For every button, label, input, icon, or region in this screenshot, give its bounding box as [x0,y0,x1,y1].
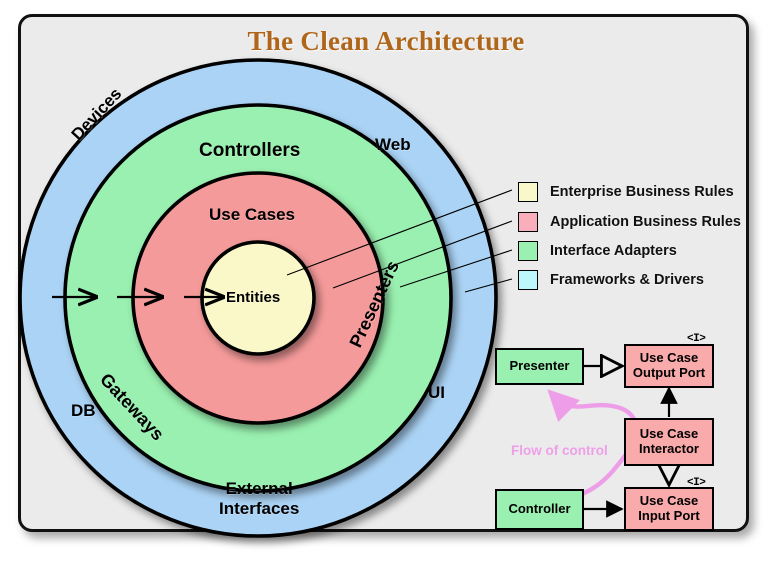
legend-item-application-business-rules: Application Business Rules [518,212,741,232]
legend-item-frameworks-drivers: Frameworks & Drivers [518,270,704,290]
legend-swatch-interface-adapters [518,241,538,261]
flow-box-use-case-input-port: Use Case Input Port [624,487,714,531]
legend-label-application: Application Business Rules [550,214,741,230]
legend-label-frameworks-drivers: Frameworks & Drivers [550,272,704,288]
legend-swatch-frameworks-drivers [518,270,538,290]
legend-swatch-application [518,212,538,232]
legend-item-enterprise-business-rules: Enterprise Business Rules [518,182,734,202]
interface-tag-output-port: <I> [687,333,705,345]
legend-label-enterprise: Enterprise Business Rules [550,184,734,200]
flow-box-presenter: Presenter [495,348,584,385]
legend-swatch-enterprise [518,182,538,202]
flow-box-controller: Controller [495,489,584,530]
flow-box-use-case-output-port: Use Case Output Port [624,344,714,388]
flow-box-output-port-line2: Output Port [633,366,705,381]
flow-box-presenter-label: Presenter [510,359,570,374]
flow-box-interactor-line1: Use Case [639,427,699,442]
flow-box-input-port-line2: Input Port [638,509,699,524]
legend-label-interface-adapters: Interface Adapters [550,243,677,259]
interface-tag-input-port: <I> [687,477,705,489]
flow-box-interactor-line2: Interactor [639,442,699,457]
flow-box-controller-label: Controller [508,502,570,517]
legend-item-interface-adapters: Interface Adapters [518,241,677,261]
flow-box-use-case-interactor: Use Case Interactor [624,418,714,466]
flow-box-input-port-line1: Use Case [638,494,699,509]
diagram-stage: The Clean Architecture [0,0,772,567]
flow-box-output-port-line1: Use Case [633,351,705,366]
flow-of-control-caption: Flow of control [511,443,608,458]
